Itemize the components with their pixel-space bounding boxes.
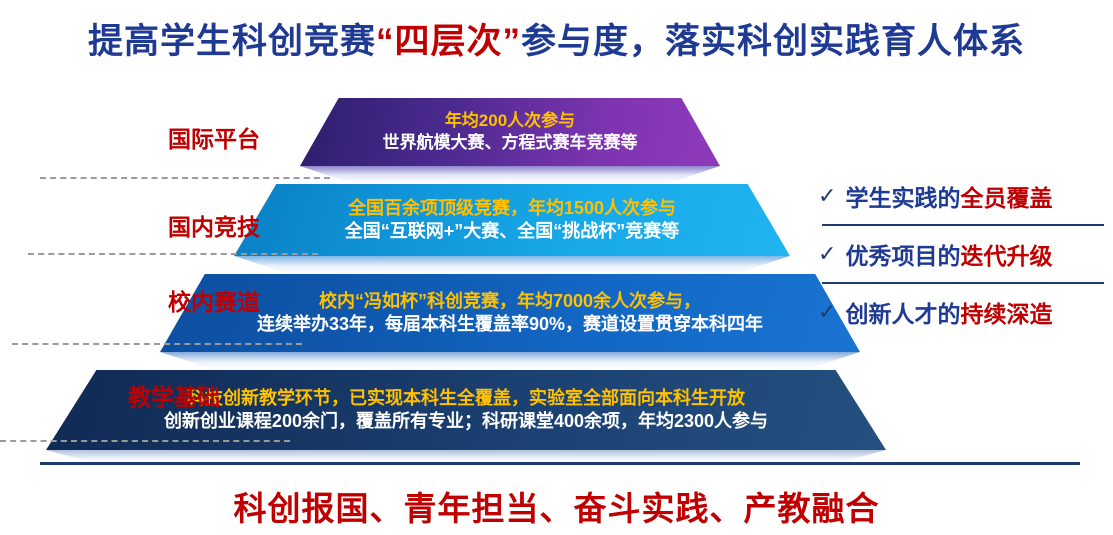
pyramid-tier-campus-track[interactable]: 校内“冯如杯”科创竞赛，年均7000余人次参与， 连续举办33年，每届本科生覆盖… <box>160 274 860 352</box>
tier-3-detail-line: 连续举办33年，每届本科生覆盖率90%，赛道设置贯穿本科四年 <box>257 313 763 336</box>
tier-3-highlight-line: 校内“冯如杯”科创竞赛，年均7000余人次参与， <box>319 290 701 313</box>
tier-1-detail-line: 世界航模大赛、方程式赛车竞赛等 <box>383 132 638 154</box>
footer-slogan: 科创报国、青年担当、奋斗实践、产教融合 <box>0 482 1113 530</box>
title-segment-blue-1: 提高学生科创竞赛 <box>88 22 376 61</box>
tier-separator-1 <box>40 177 330 179</box>
tier-1-highlight-line: 年均200人次参与 <box>445 110 575 132</box>
checklist-item-3-prefix: 创新人才的 <box>845 301 960 327</box>
footer-divider <box>40 462 1080 465</box>
checklist-item-label-1: 学生实践的全员覆盖 <box>845 179 1052 213</box>
tier-2-detail-line: 全国“互联网+”大赛、全国“挑战杯”竞赛等 <box>345 220 680 243</box>
tier-1-reflection <box>300 166 720 183</box>
tier-separator-3 <box>12 343 302 345</box>
tier-separator-2 <box>28 253 318 255</box>
tier-2-reflection <box>234 256 790 274</box>
checklist-item-1-prefix: 学生实践的 <box>845 185 960 211</box>
tier-4-highlight-line: 科技创新教学环节，已实现本科生全覆盖，实验室全部面向本科生开放 <box>187 387 745 410</box>
pyramid-tier-domestic-competition[interactable]: 全国百余项顶级竞赛，年均1500人次参与 全国“互联网+”大赛、全国“挑战杯”竞… <box>234 184 790 256</box>
title-segment-red: “四层次” <box>376 22 521 61</box>
checklist-item-label-2: 优秀项目的迭代升级 <box>845 237 1052 271</box>
checklist-item-label-3: 创新人才的持续深造 <box>845 295 1052 329</box>
checklist-item-iterative-upgrade[interactable]: ✓ 优秀项目的迭代升级 <box>818 236 1110 272</box>
tier-separator-4 <box>0 440 290 442</box>
checklist-divider-2 <box>822 282 1104 284</box>
page-title: 提高学生科创竞赛“四层次”参与度，落实科创实践育人体系 <box>0 22 1113 62</box>
checklist-item-full-coverage[interactable]: ✓ 学生实践的全员覆盖 <box>818 178 1110 214</box>
check-icon: ✓ <box>818 185 836 207</box>
tier-label-domestic-competition: 国内竞技 <box>60 208 260 242</box>
tier-3-reflection <box>160 352 860 370</box>
tier-4-detail-line: 创新创业课程200余门，覆盖所有专业；科研课堂400余项，年均2300人参与 <box>164 410 768 433</box>
tier-label-campus-track: 校内赛道 <box>30 283 260 317</box>
tier-2-highlight-line: 全国百余项顶级竞赛，年均1500人次参与 <box>348 197 676 220</box>
checklist-item-continued-advancement[interactable]: ✓ 创新人才的持续深造 <box>818 294 1110 330</box>
tier-label-international-platform: 国际平台 <box>60 120 260 154</box>
checklist-divider-1 <box>822 224 1104 226</box>
checklist-item-3-emphasis: 持续深造 <box>960 301 1052 327</box>
tier-label-teaching-foundation: 教学基础 <box>0 378 220 412</box>
title-segment-blue-2: 参与度，落实科创实践育人体系 <box>521 22 1025 61</box>
outcomes-checklist: ✓ 学生实践的全员覆盖 ✓ 优秀项目的迭代升级 ✓ 创新人才的持续深造 <box>818 178 1110 330</box>
slide-canvas: 提高学生科创竞赛“四层次”参与度，落实科创实践育人体系 年均200人次参与 世界… <box>0 0 1113 535</box>
checklist-item-2-prefix: 优秀项目的 <box>845 243 960 269</box>
checklist-item-1-emphasis: 全员覆盖 <box>960 185 1052 211</box>
check-icon: ✓ <box>818 301 836 323</box>
checklist-item-2-emphasis: 迭代升级 <box>960 243 1052 269</box>
check-icon: ✓ <box>818 243 836 265</box>
pyramid-tier-international-platform[interactable]: 年均200人次参与 世界航模大赛、方程式赛车竞赛等 <box>300 98 720 166</box>
